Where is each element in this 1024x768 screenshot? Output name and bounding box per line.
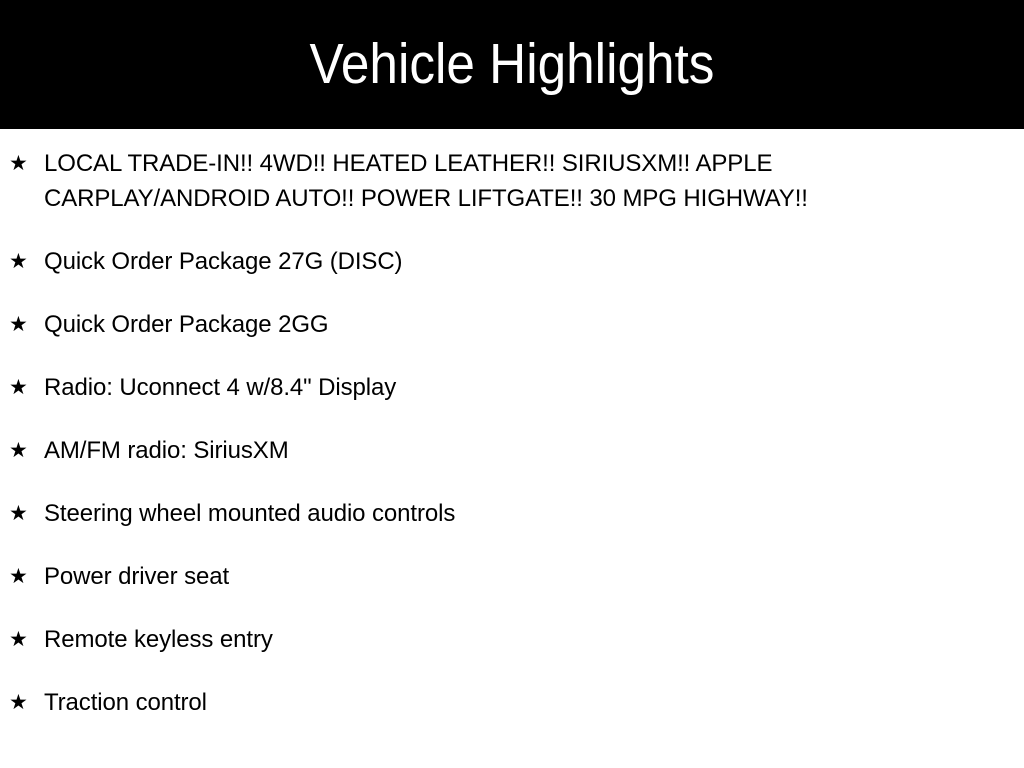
page-title: Vehicle Highlights: [310, 36, 715, 93]
list-item: ★ Quick Order Package 27G (DISC): [0, 244, 1024, 279]
list-item-label: Quick Order Package 2GG: [44, 307, 1004, 342]
star-bullet-icon: ★: [9, 146, 31, 181]
star-bullet-icon: ★: [9, 685, 31, 720]
star-bullet-icon: ★: [9, 370, 31, 405]
list-item-label: Remote keyless entry: [44, 622, 1004, 657]
list-item: ★ Remote keyless entry: [0, 622, 1024, 657]
list-item-label: AM/FM radio: SiriusXM: [44, 433, 1004, 468]
star-bullet-icon: ★: [9, 433, 31, 468]
list-item: ★ Radio: Uconnect 4 w/8.4" Display: [0, 370, 1024, 405]
list-item: ★ AM/FM radio: SiriusXM: [0, 433, 1024, 468]
list-item: ★ LOCAL TRADE-IN!! 4WD!! HEATED LEATHER!…: [0, 146, 1024, 216]
star-bullet-icon: ★: [9, 496, 31, 531]
highlights-list: ★ LOCAL TRADE-IN!! 4WD!! HEATED LEATHER!…: [0, 129, 1024, 768]
list-item-label: Traction control: [44, 685, 1004, 720]
list-item-label: LOCAL TRADE-IN!! 4WD!! HEATED LEATHER!! …: [44, 146, 1004, 216]
star-bullet-icon: ★: [9, 244, 31, 279]
list-item-label: Radio: Uconnect 4 w/8.4" Display: [44, 370, 1004, 405]
star-bullet-icon: ★: [9, 622, 31, 657]
list-item-label: Steering wheel mounted audio controls: [44, 496, 1004, 531]
list-item: ★ Traction control: [0, 685, 1024, 720]
list-item: ★ Quick Order Package 2GG: [0, 307, 1024, 342]
star-bullet-icon: ★: [9, 307, 31, 342]
star-bullet-icon: ★: [9, 559, 31, 594]
list-item: ★ Steering wheel mounted audio controls: [0, 496, 1024, 531]
list-item-label: Quick Order Package 27G (DISC): [44, 244, 1004, 279]
vehicle-highlights-page: Vehicle Highlights ★ LOCAL TRADE-IN!! 4W…: [0, 0, 1024, 768]
header-bar: Vehicle Highlights: [0, 0, 1024, 129]
list-item: ★ Power driver seat: [0, 559, 1024, 594]
list-item-label: Power driver seat: [44, 559, 1004, 594]
